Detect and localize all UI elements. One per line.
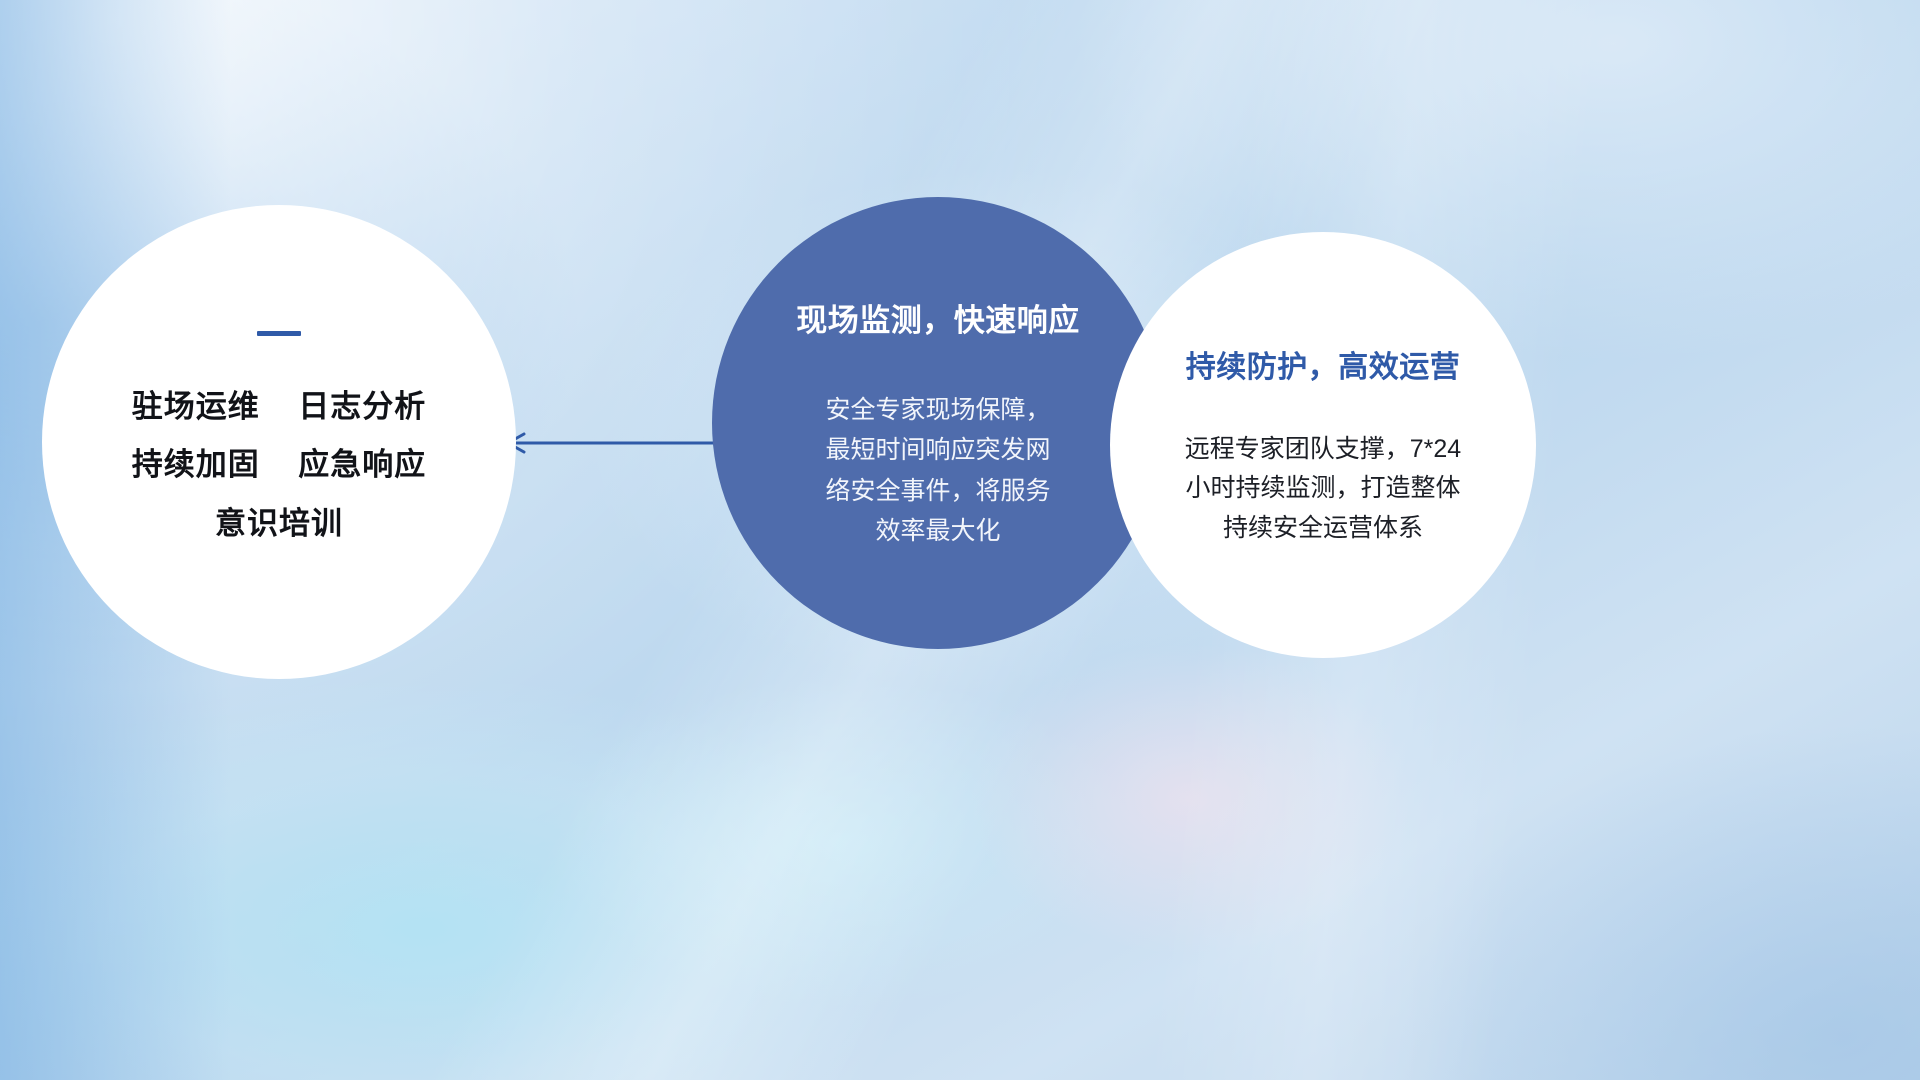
divider-dash-icon bbox=[257, 331, 301, 336]
list-item: 持续加固 应急响应 bbox=[132, 436, 426, 494]
right-card-title: 持续防护，高效运营 bbox=[1186, 342, 1461, 386]
body-line: 安全专家现场保障， bbox=[788, 390, 1088, 431]
right-card-body: 远程专家团队支撑，7*24 小时持续监测，打造整体 持续安全运营体系 bbox=[1151, 430, 1495, 549]
body-line: 远程专家团队支撑，7*24 bbox=[1151, 430, 1495, 470]
slide-canvas: 驻场运维 日志分析 持续加固 应急响应 意识培训 现场监测，快速响应 安全专家现… bbox=[0, 0, 1920, 1080]
middle-card-body: 安全专家现场保障， 最短时间响应突发网 络安全事件，将服务 效率最大化 bbox=[788, 390, 1088, 552]
left-capability-list: 驻场运维 日志分析 持续加固 应急响应 意识培训 bbox=[132, 378, 426, 553]
list-item: 驻场运维 日志分析 bbox=[132, 378, 426, 436]
middle-onsite-circle[interactable]: 现场监测，快速响应 安全专家现场保障， 最短时间响应突发网 络安全事件，将服务 … bbox=[712, 197, 1164, 649]
list-item: 意识培训 bbox=[132, 495, 426, 553]
body-line: 持续安全运营体系 bbox=[1151, 509, 1495, 549]
middle-card-title: 现场监测，快速响应 bbox=[796, 295, 1080, 340]
right-operations-circle[interactable]: 持续防护，高效运营 远程专家团队支撑，7*24 小时持续监测，打造整体 持续安全… bbox=[1110, 232, 1536, 658]
body-line: 效率最大化 bbox=[788, 511, 1088, 552]
left-capability-circle[interactable]: 驻场运维 日志分析 持续加固 应急响应 意识培训 bbox=[42, 205, 516, 679]
body-line: 最短时间响应突发网 bbox=[788, 430, 1088, 471]
body-line: 小时持续监测，打造整体 bbox=[1151, 469, 1495, 509]
body-line: 络安全事件，将服务 bbox=[788, 471, 1088, 512]
